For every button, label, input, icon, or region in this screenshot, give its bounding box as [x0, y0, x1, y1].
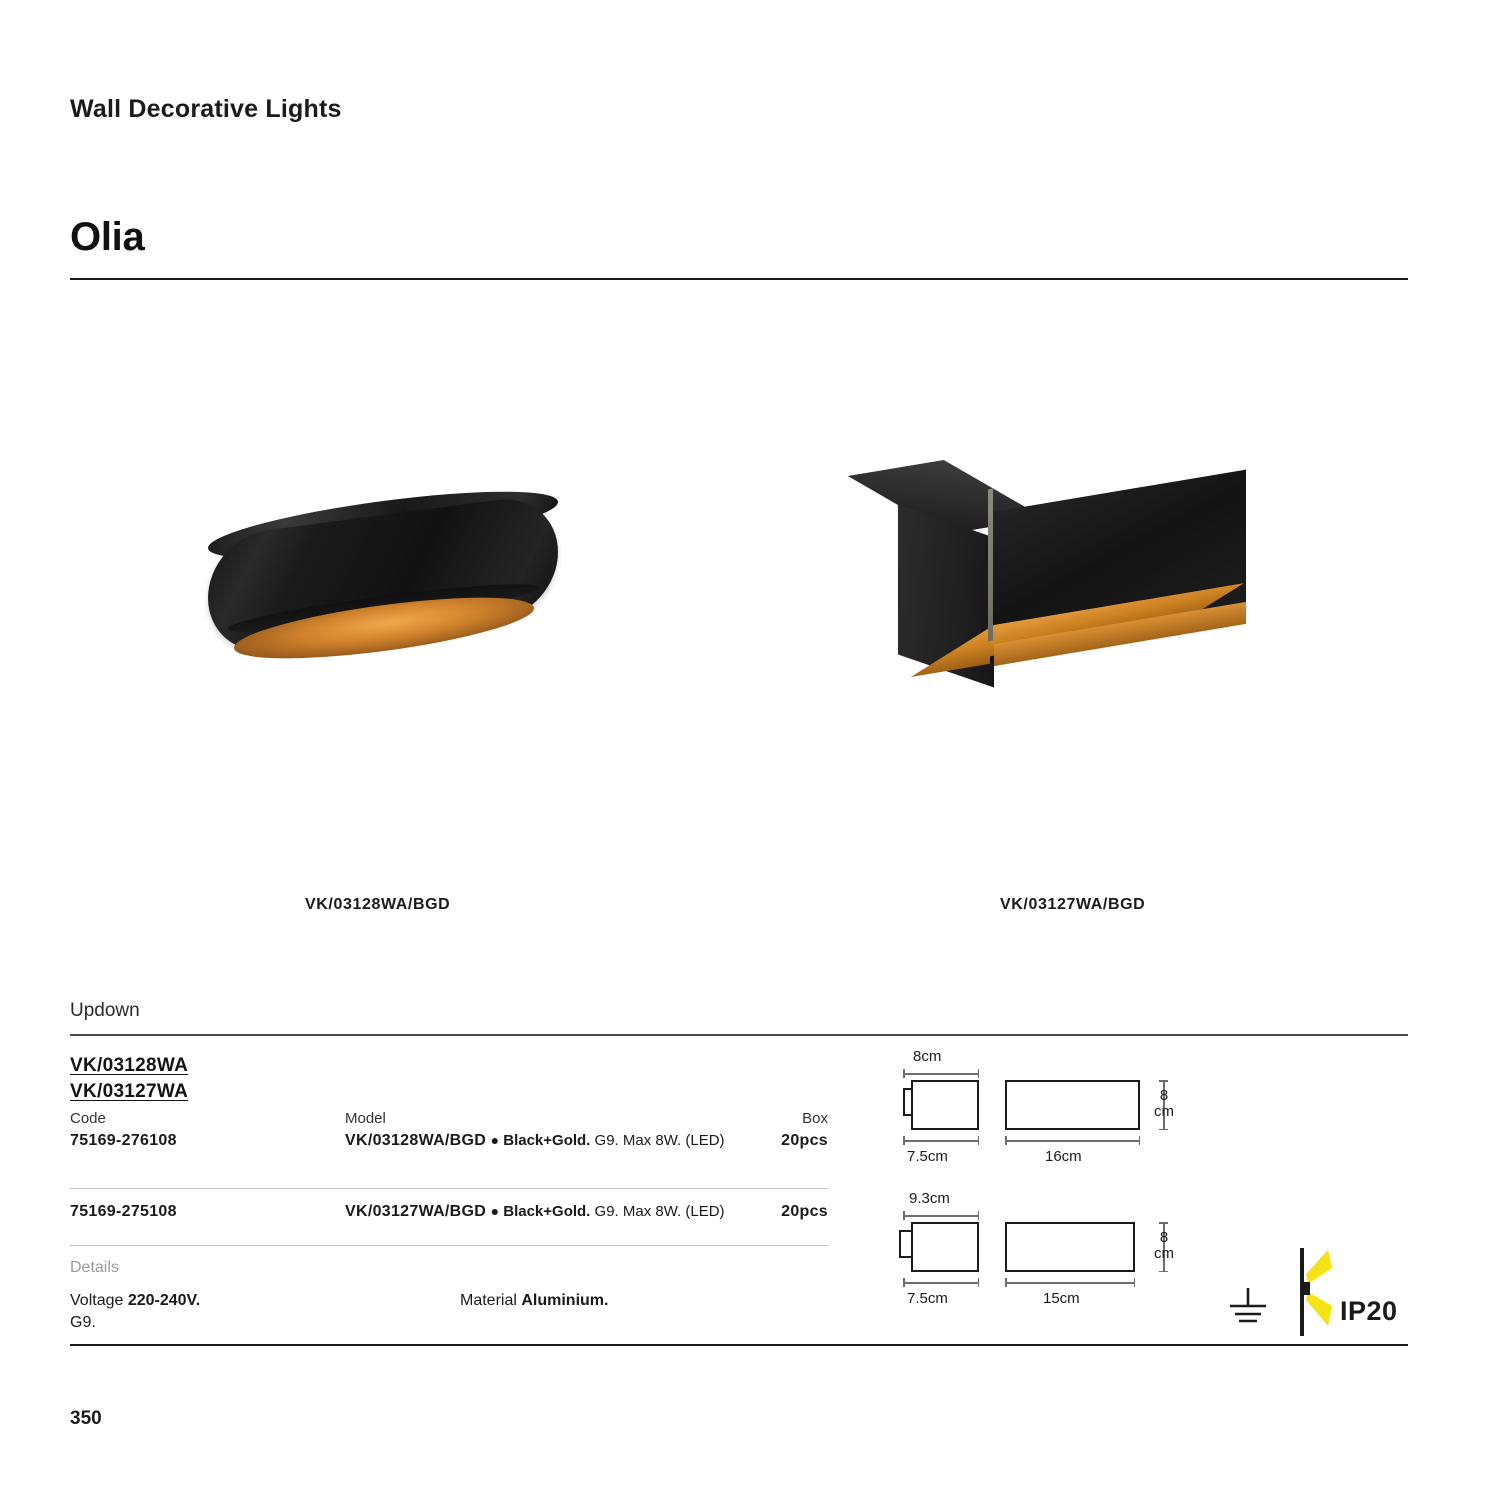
- updown-beam-icon: [1284, 1244, 1340, 1345]
- footer-divider: [70, 1344, 1408, 1346]
- dim-height-unit: cm: [1154, 1103, 1174, 1120]
- column-header-model: Model: [345, 1110, 386, 1127]
- voltage-label: Voltage: [70, 1292, 128, 1309]
- dim-side-top-arrow: [903, 1215, 979, 1217]
- dim-front-height-label: 8 cm: [1153, 1088, 1175, 1120]
- product-gallery: [0, 400, 1500, 940]
- lamp-base-value: G9.: [70, 1314, 96, 1331]
- voltage-value: 220-240V.: [128, 1292, 200, 1309]
- product-image-rectangular: [890, 475, 1280, 675]
- dim-front-width-label: 15cm: [1043, 1290, 1080, 1307]
- box-lamp-seam: [988, 489, 993, 642]
- dim-side-view-shape: [911, 1222, 979, 1272]
- column-header-box: Box: [802, 1110, 828, 1127]
- dim-side-bottom-label: 7.5cm: [907, 1290, 948, 1307]
- dim-side-bottom-label: 7.5cm: [907, 1148, 948, 1165]
- page-title: Olia: [70, 215, 144, 260]
- table-row: 75169-275108 VK/03127WA/BGD ● Black+Gold…: [70, 1189, 828, 1245]
- cell-finish: Black+Gold.: [503, 1132, 590, 1149]
- cell-model-desc: ● Black+Gold. G9. Max 8W. (LED): [491, 1203, 725, 1220]
- dim-front-width-label: 16cm: [1045, 1148, 1082, 1165]
- model-link-list: VK/03128WA VK/03127WA: [70, 1053, 188, 1105]
- details-label: Details: [70, 1259, 119, 1277]
- cell-model-desc: ● Black+Gold. G9. Max 8W. (LED): [491, 1132, 725, 1149]
- product-image-oval: [200, 455, 580, 675]
- section-divider: [70, 1034, 1408, 1036]
- model-link-03127wa[interactable]: VK/03127WA: [70, 1079, 188, 1105]
- dim-side-view-shape: [911, 1080, 979, 1130]
- model-link-03128wa[interactable]: VK/03128WA: [70, 1053, 188, 1079]
- box-lamp-illustration: [890, 475, 1280, 675]
- table-header-row: Code Model Box: [70, 1110, 828, 1132]
- ip-rating-label: IP20: [1340, 1296, 1398, 1327]
- color-swatch-icon: ●: [491, 1132, 499, 1148]
- dim-height-number: 8: [1160, 1087, 1168, 1104]
- product-caption-2: VK/03127WA/BGD: [1000, 896, 1145, 914]
- cell-model-name: VK/03128WA/BGD: [345, 1132, 486, 1149]
- dim-side-top-label: 8cm: [913, 1048, 941, 1065]
- catalog-page: Wall Decorative Lights Olia VK/03: [0, 0, 1500, 1500]
- details-material: Material Aluminium.: [460, 1290, 608, 1312]
- color-swatch-icon: ●: [491, 1203, 499, 1219]
- cell-box: 20pcs: [781, 1132, 828, 1150]
- section-label-updown: Updown: [70, 1000, 140, 1022]
- cell-code: 75169-275108: [70, 1203, 177, 1221]
- column-header-code: Code: [70, 1110, 106, 1127]
- oval-lamp-illustration: [200, 455, 580, 675]
- cell-spec: G9. Max 8W. (LED): [590, 1132, 724, 1149]
- dim-front-view-shape: [1005, 1080, 1140, 1130]
- dim-side-bottom-arrow: [903, 1282, 979, 1284]
- dim-side-top-arrow: [903, 1073, 979, 1075]
- dim-front-width-arrow: [1005, 1140, 1140, 1142]
- product-caption-1: VK/03128WA/BGD: [305, 896, 450, 914]
- spec-table: Code Model Box 75169-276108 VK/03128WA/B…: [70, 1110, 828, 1246]
- earth-ground-icon: [1222, 1286, 1274, 1335]
- cell-model-name: VK/03127WA/BGD: [345, 1203, 486, 1220]
- dim-height-unit: cm: [1154, 1245, 1174, 1262]
- dim-side-bottom-arrow: [903, 1140, 979, 1142]
- table-row-divider: [70, 1245, 828, 1246]
- table-row: 75169-276108 VK/03128WA/BGD ● Black+Gold…: [70, 1132, 828, 1188]
- dim-front-view-shape: [1005, 1222, 1135, 1272]
- cell-spec: G9. Max 8W. (LED): [590, 1203, 724, 1220]
- dim-front-height-label: 8 cm: [1153, 1230, 1175, 1262]
- cell-model: VK/03127WA/BGD ● Black+Gold. G9. Max 8W.…: [345, 1203, 725, 1221]
- details-voltage: Voltage 220-240V. G9.: [70, 1290, 200, 1334]
- dim-height-number: 8: [1160, 1229, 1168, 1246]
- title-divider: [70, 278, 1408, 280]
- cell-box: 20pcs: [781, 1203, 828, 1221]
- cell-finish: Black+Gold.: [503, 1203, 590, 1220]
- dim-side-top-label: 9.3cm: [909, 1190, 950, 1207]
- page-kicker: Wall Decorative Lights: [70, 95, 342, 124]
- page-number: 350: [70, 1408, 102, 1430]
- material-value: Aluminium.: [521, 1292, 608, 1309]
- cell-model: VK/03128WA/BGD ● Black+Gold. G9. Max 8W.…: [345, 1132, 725, 1150]
- dim-front-width-arrow: [1005, 1282, 1135, 1284]
- cell-code: 75169-276108: [70, 1132, 177, 1150]
- material-label: Material: [460, 1292, 521, 1309]
